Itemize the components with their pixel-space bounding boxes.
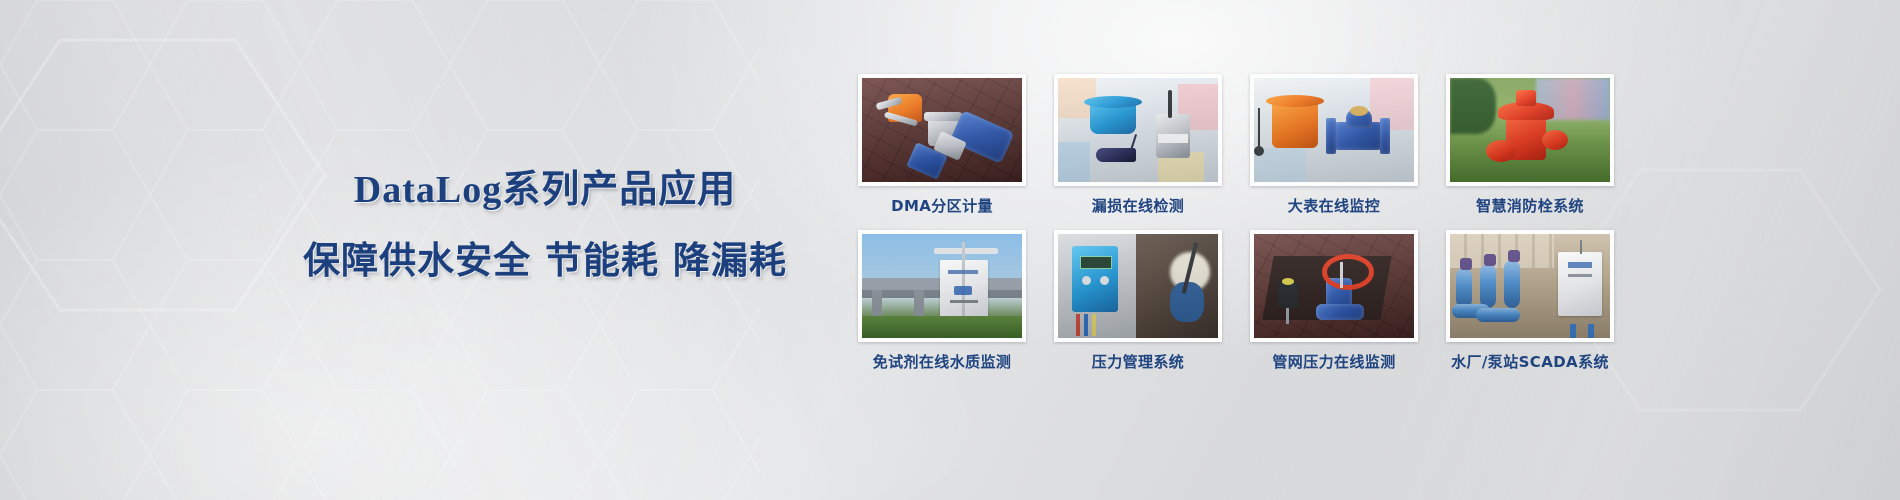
gallery-item[interactable]: 管网压力在线监测: [1248, 230, 1420, 372]
product-gallery-grid: DMA分区计量: [856, 74, 1616, 372]
dma-flow-meter-chamber-photo: [862, 78, 1022, 182]
pressure-control-cabinet-photo: [1058, 234, 1218, 338]
gallery-item[interactable]: 水厂/泵站SCADA系统: [1444, 230, 1616, 372]
gallery-item-caption: 智慧消防栓系统: [1444, 195, 1616, 216]
gallery-item-caption: 管网压力在线监测: [1248, 351, 1420, 372]
thumbnail-frame[interactable]: [858, 230, 1026, 342]
leak-detection-logger-photo: [1058, 78, 1218, 182]
gallery-item-caption: 免试剂在线水质监测: [856, 351, 1028, 372]
thumbnail-frame[interactable]: [1054, 230, 1222, 342]
red-fire-hydrant-photo: [1450, 78, 1610, 182]
gallery-item-caption: DMA分区计量: [856, 195, 1028, 216]
gallery-item-caption: 水厂/泵站SCADA系统: [1444, 351, 1616, 372]
headline-block: DataLog系列产品应用 保障供水安全 节能耗 降漏耗: [250, 168, 840, 283]
headline-secondary: 保障供水安全 节能耗 降漏耗: [250, 239, 840, 283]
thumbnail-frame[interactable]: [1054, 74, 1222, 186]
gallery-item-caption: 漏损在线检测: [1052, 195, 1224, 216]
large-water-meter-photo: [1254, 78, 1414, 182]
gallery-item[interactable]: 大表在线监控: [1248, 74, 1420, 216]
headline-primary: DataLog系列产品应用: [250, 168, 840, 213]
pipe-network-valve-photo: [1254, 234, 1414, 338]
thumbnail-frame[interactable]: [1446, 230, 1614, 342]
gallery-item[interactable]: DMA分区计量: [856, 74, 1028, 216]
gallery-item[interactable]: 智慧消防栓系统: [1444, 74, 1616, 216]
gallery-item[interactable]: 漏损在线检测: [1052, 74, 1224, 216]
product-application-banner: DataLog系列产品应用 保障供水安全 节能耗 降漏耗: [0, 0, 1900, 500]
thumbnail-frame[interactable]: [1250, 74, 1418, 186]
thumbnail-frame[interactable]: [1250, 230, 1418, 342]
thumbnail-frame[interactable]: [1446, 74, 1614, 186]
gallery-item[interactable]: 压力管理系统: [1052, 230, 1224, 372]
thumbnail-frame[interactable]: [858, 74, 1026, 186]
pump-station-scada-photo: [1450, 234, 1610, 338]
gallery-item[interactable]: 免试剂在线水质监测: [856, 230, 1028, 372]
gallery-item-caption: 压力管理系统: [1052, 351, 1224, 372]
gallery-item-caption: 大表在线监控: [1248, 195, 1420, 216]
water-quality-station-photo: [862, 234, 1022, 338]
